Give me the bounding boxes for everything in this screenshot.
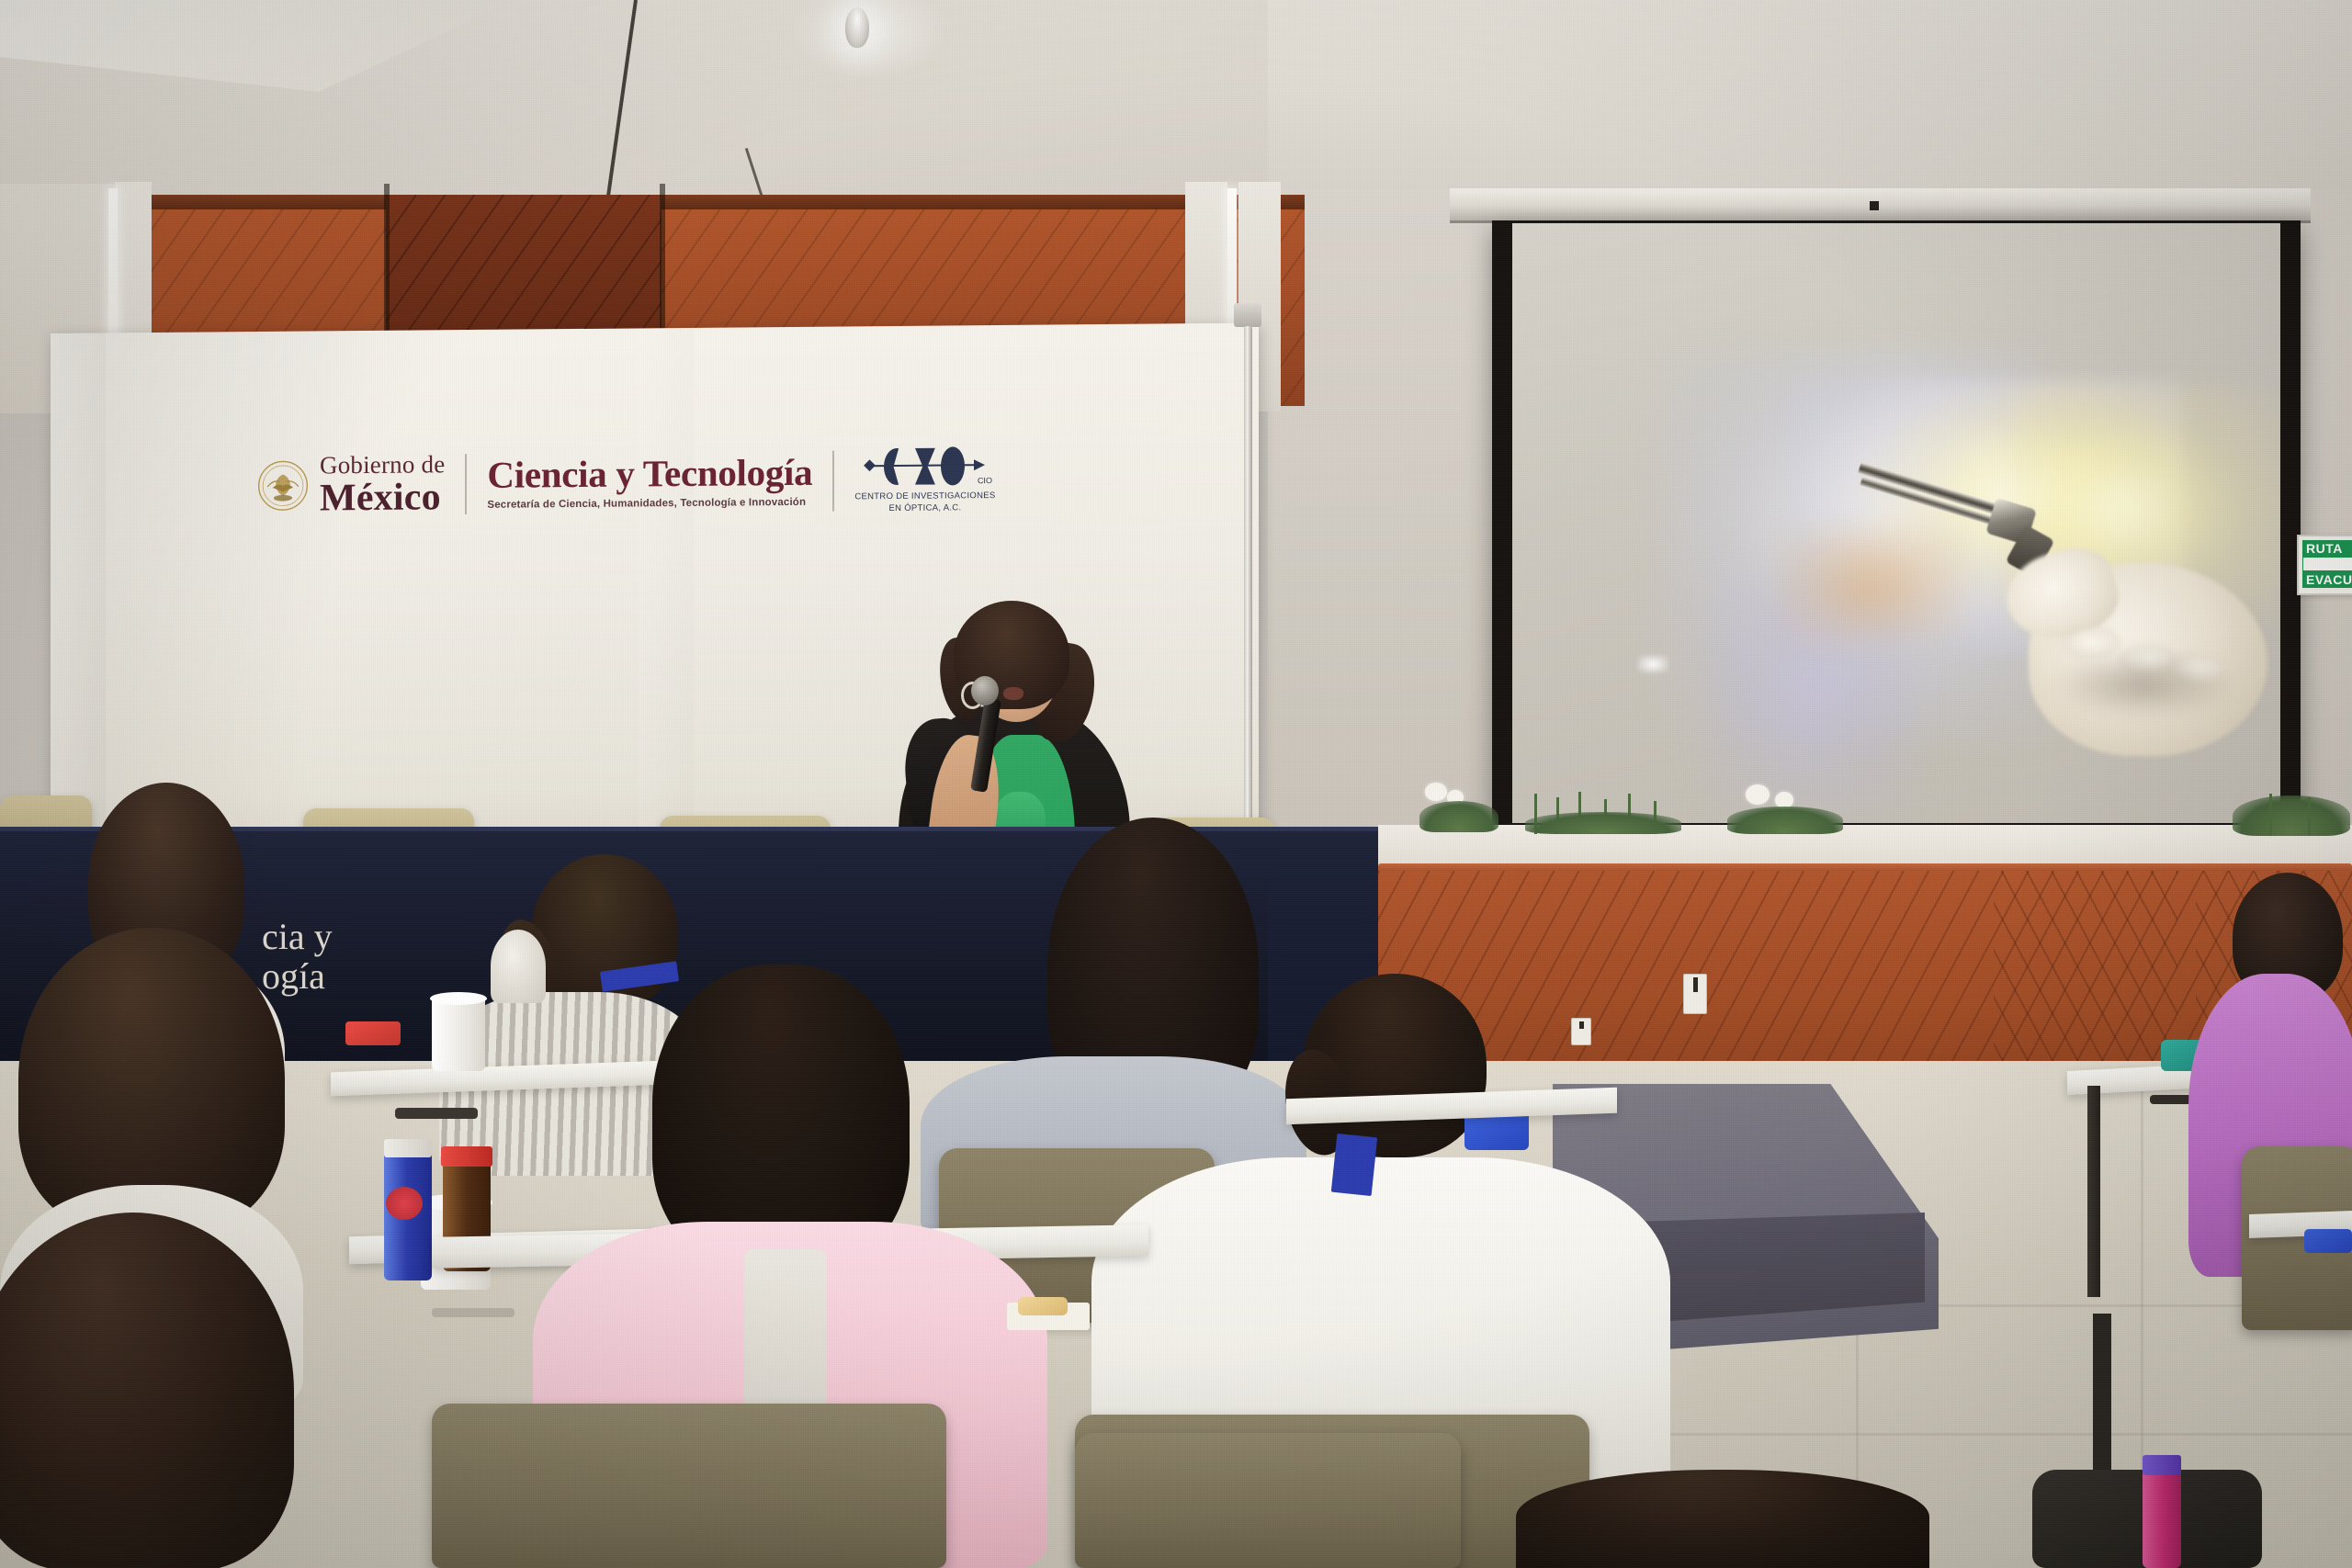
ceiling-spotlight-icon <box>845 7 869 48</box>
institute-line2: EN ÓPTICA, A.C. <box>854 502 995 515</box>
exit-sign-pictogram <box>2302 557 2352 571</box>
banner-logo-row: Gobierno de México Ciencia y Tecnología … <box>257 445 996 521</box>
government-line2: México <box>320 478 445 517</box>
potted-plant-icon <box>1525 792 1681 834</box>
strawberry-label <box>386 1187 423 1220</box>
power-outlet-icon <box>1571 1018 1591 1045</box>
projected-image <box>1512 223 2280 831</box>
ejected-spark <box>1637 655 1668 673</box>
shooter-hand <box>1997 515 2280 791</box>
stage-skirt-print: cia y ogía <box>262 919 333 994</box>
table-leg <box>2087 1086 2100 1297</box>
banner-support-pole <box>1244 326 1252 874</box>
cio-logo-icon: CIO <box>865 445 985 488</box>
mexican-coat-of-arms-icon <box>257 459 309 511</box>
institute-acronym-sup: CIO <box>978 476 992 485</box>
water-bottle-cap <box>2143 1455 2181 1475</box>
projection-screen-housing[interactable] <box>1450 188 2311 223</box>
government-wordmark: Gobierno de México <box>320 452 445 517</box>
right-wall-upper-band <box>1268 0 2352 189</box>
blue-pouch[interactable] <box>2304 1229 2352 1253</box>
muzzle-flash-amber <box>1779 526 1962 646</box>
banner-fold <box>51 333 106 866</box>
exit-sign-line1: RUTA <box>2302 540 2352 557</box>
stage-skirt-line2: ogía <box>262 958 333 994</box>
banner-divider-1 <box>465 454 467 514</box>
exit-sign-line2: EVACUA <box>2302 571 2352 588</box>
light-switch-icon <box>1683 974 1707 1014</box>
agency-wordmark: Ciencia y Tecnología Secretaría de Cienc… <box>487 454 812 512</box>
screen-housing-dot <box>1870 201 1879 210</box>
lanyard-badge <box>1331 1134 1377 1196</box>
yogurt-bottle-cap <box>384 1139 432 1157</box>
spotlight-glow <box>790 0 946 81</box>
banner-pole-top <box>1234 303 1261 327</box>
potted-plant-icon <box>1419 788 1502 832</box>
banner-divider-2 <box>832 450 834 511</box>
chair[interactable] <box>432 1404 946 1568</box>
water-bottle[interactable] <box>2143 1461 2181 1568</box>
screen-border-left <box>1492 220 1512 836</box>
snack <box>1018 1297 1068 1315</box>
agency-title: Ciencia y Tecnología <box>487 454 812 494</box>
potted-plant-icon <box>2233 790 2352 836</box>
smartphone[interactable] <box>395 1108 478 1119</box>
banner-fold <box>639 328 694 862</box>
cio-logo-on-skirt <box>491 930 546 1003</box>
orchid-plant-icon <box>1727 788 1847 834</box>
speaker-mouth <box>1003 687 1023 700</box>
red-napkin <box>345 1021 401 1045</box>
screen-border-right <box>2280 220 2301 836</box>
cup-rim <box>430 992 487 1005</box>
conference-hall-photo: RUTA EVACUA Gobierno de México Ci <box>0 0 2352 1568</box>
microphone-head <box>971 676 999 705</box>
projection-screen-surface <box>1512 223 2280 831</box>
cutlery[interactable] <box>432 1308 514 1317</box>
soda-bottle-cap <box>441 1146 492 1167</box>
institute-logo: CIO CENTRO DE INVESTIGACIONES EN ÓPTICA,… <box>854 445 995 515</box>
table-leg <box>2093 1314 2111 1479</box>
government-line1: Gobierno de <box>320 452 445 478</box>
chair[interactable] <box>1075 1433 1461 1568</box>
exit-route-sign-icon: RUTA EVACUA <box>2297 535 2352 595</box>
stage-skirt-line1: cia y <box>262 919 333 954</box>
institute-line1: CENTRO DE INVESTIGACIONES <box>854 491 995 503</box>
styrofoam-cup[interactable] <box>432 998 485 1071</box>
agency-subtitle: Secretaría de Ciencia, Humanidades, Tecn… <box>487 498 812 512</box>
